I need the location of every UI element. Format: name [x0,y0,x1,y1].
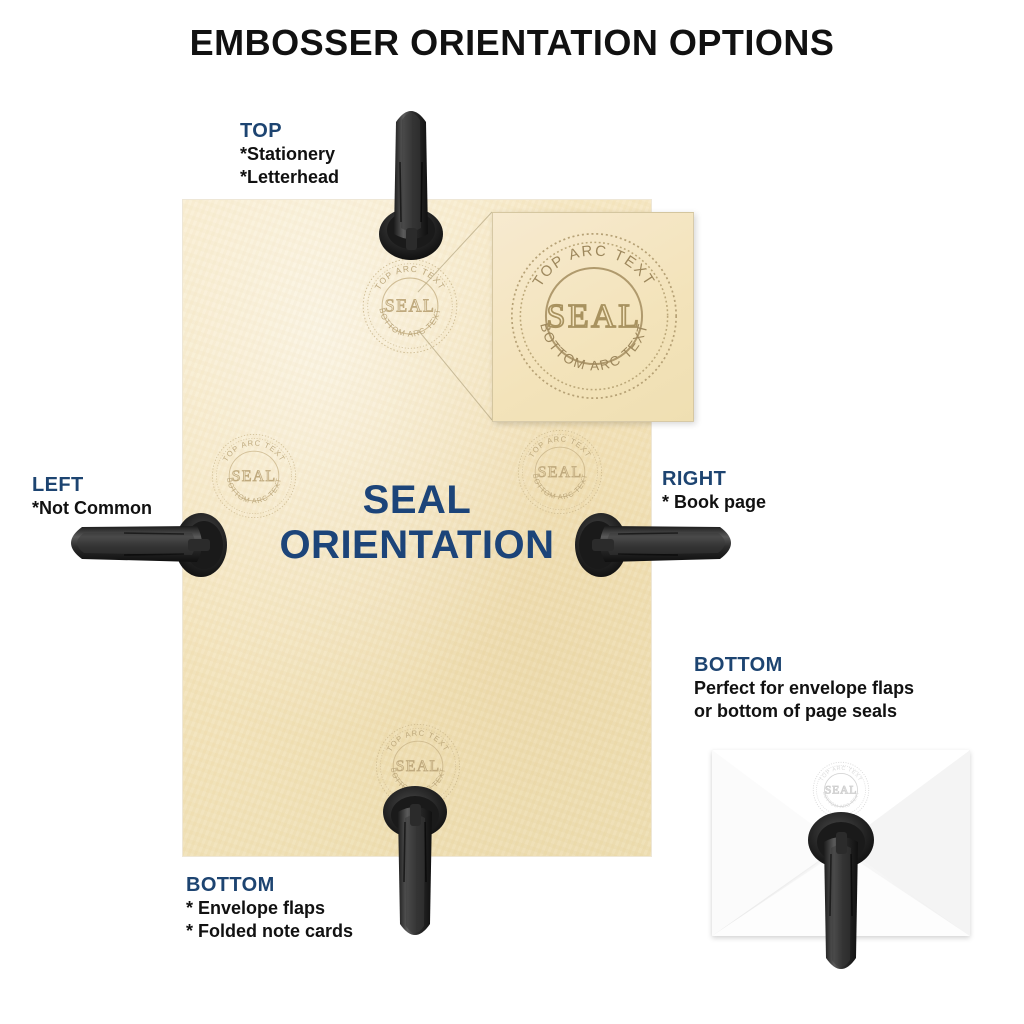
illustration-canvas: EMBOSSER ORIENTATION OPTIONS TOP ARC TEX… [0,0,1024,1024]
embosser-envelope[interactable] [806,806,876,986]
embosser-top[interactable] [378,102,444,268]
page-title: EMBOSSER ORIENTATION OPTIONS [0,22,1024,64]
embosser-bottom[interactable] [382,782,448,954]
seal-impression-magnified: TOP ARC TEXT BOTTOM ARC TEXT SEAL [501,223,687,409]
label-right: RIGHT * Book page [662,468,766,514]
label-left-heading: LEFT [32,474,152,497]
label-bottom-line-1: * Envelope flaps [186,897,353,920]
label-right-heading: RIGHT [662,468,766,491]
svg-text:SEAL: SEAL [385,295,435,315]
embosser-right[interactable] [570,508,740,580]
zoom-callout-panel: TOP ARC TEXT BOTTOM ARC TEXT SEAL [492,212,694,422]
svg-text:SEAL: SEAL [396,758,441,775]
svg-text:TOP ARC TEXT: TOP ARC TEXT [530,243,657,290]
label-top-line-1: *Stationery [240,143,339,166]
label-envelope-heading: BOTTOM [694,654,914,677]
label-bottom: BOTTOM * Envelope flaps * Folded note ca… [186,874,353,943]
label-left-line-1: *Not Common [32,497,152,520]
label-right-line-1: * Book page [662,491,766,514]
label-left: LEFT *Not Common [32,474,152,520]
svg-text:SEAL: SEAL [546,298,641,335]
label-bottom-heading: BOTTOM [186,874,353,897]
label-envelope-line-2: or bottom of page seals [694,700,914,723]
svg-text:SEAL: SEAL [825,784,857,797]
seal-impression-top: TOP ARC TEXT BOTTOM ARC TEXT SEAL [356,252,464,360]
label-envelope-line-1: Perfect for envelope flaps [694,677,914,700]
label-envelope: BOTTOM Perfect for envelope flaps or bot… [694,654,914,723]
label-top-line-2: *Letterhead [240,166,339,189]
label-top: TOP *Stationery *Letterhead [240,120,339,189]
label-top-heading: TOP [240,120,339,143]
envelope-illustration: TOP ARC TEXT BOTTOM ARC TEXT SEAL [712,750,970,936]
svg-text:TOP ARC TEXT: TOP ARC TEXT [819,766,863,783]
label-bottom-line-2: * Folded note cards [186,920,353,943]
